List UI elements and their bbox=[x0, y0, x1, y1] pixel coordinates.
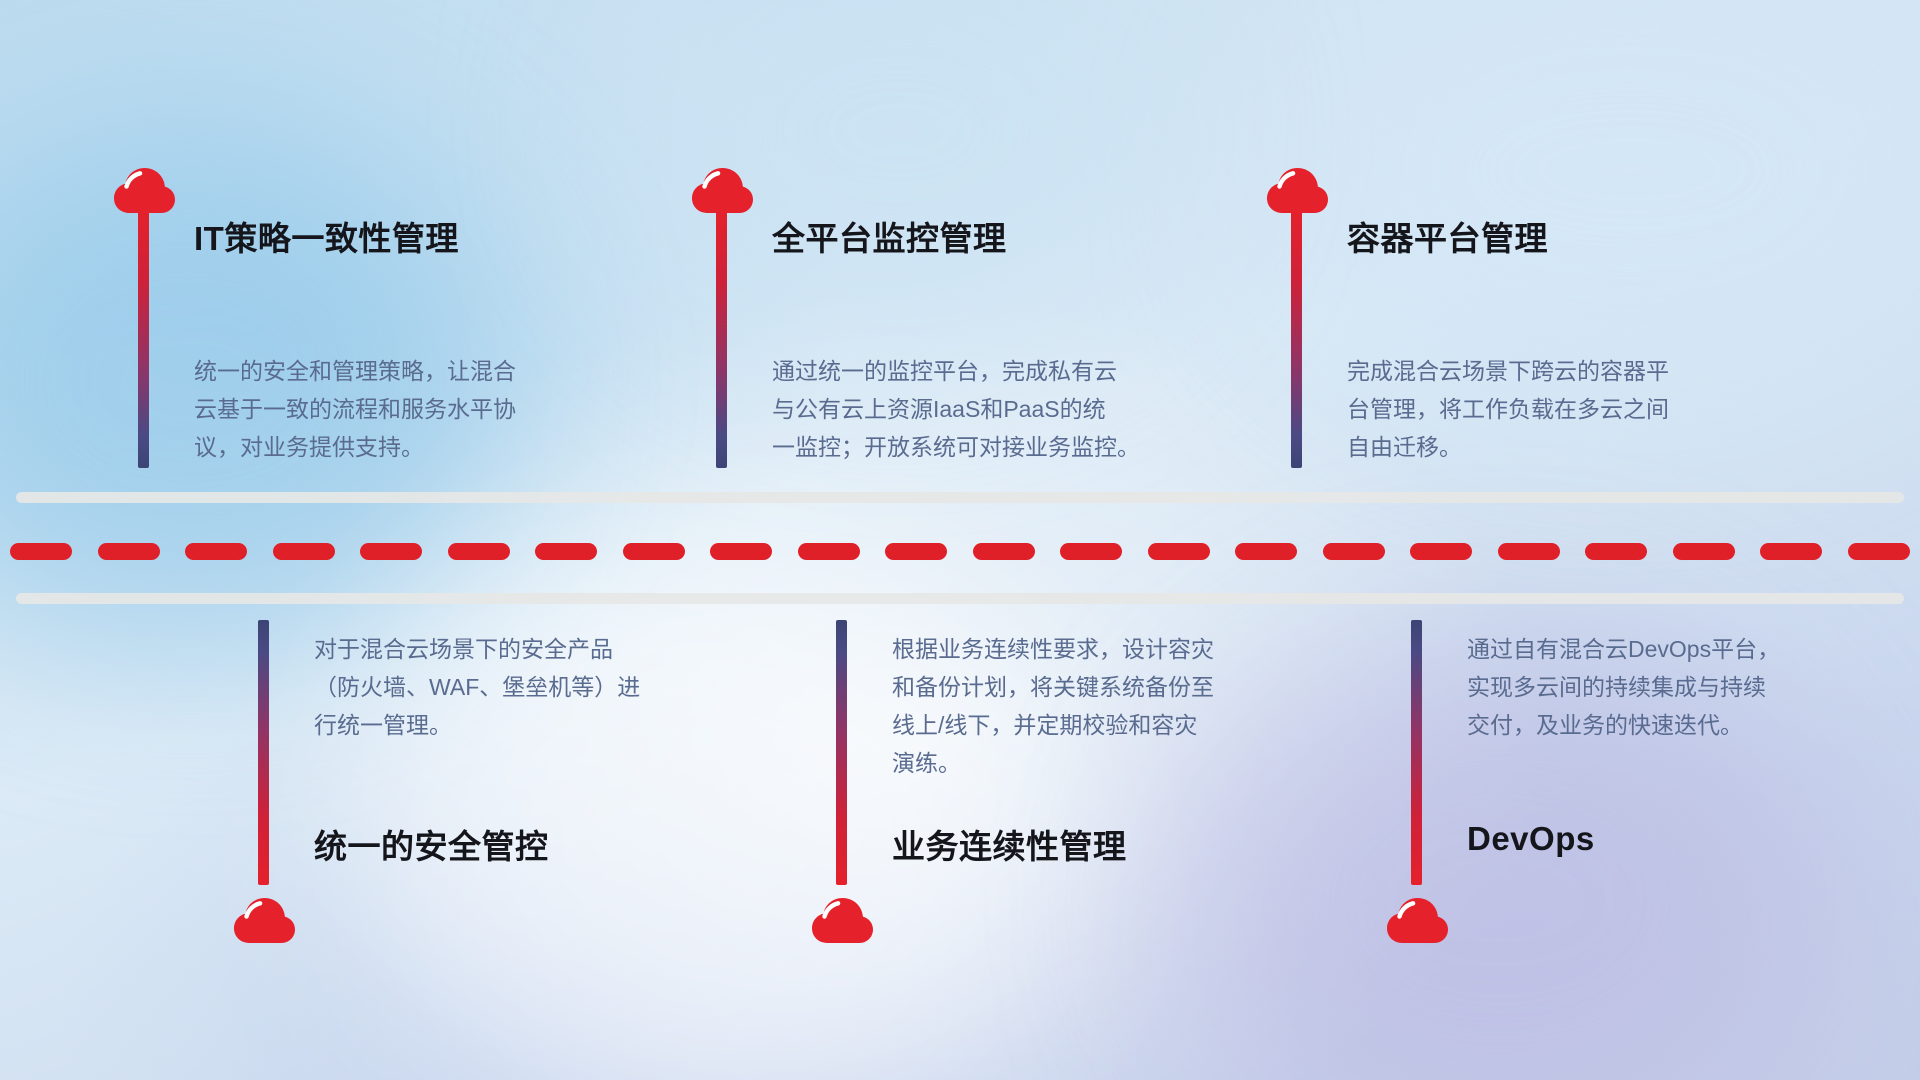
cloud-icon bbox=[810, 890, 874, 946]
capability-description: 通过自有混合云DevOps平台， 实现多云间的持续集成与持续 交付，及业务的快速… bbox=[1467, 630, 1920, 744]
road-dash bbox=[1060, 543, 1122, 560]
road-dash bbox=[10, 543, 72, 560]
road-dash bbox=[623, 543, 685, 560]
description-line: 实现多云间的持续集成与持续 bbox=[1467, 668, 1920, 706]
capability-heading: 全平台监控管理 bbox=[772, 212, 1007, 260]
description-line: 议，对业务提供支持。 bbox=[194, 428, 654, 466]
connector-stem bbox=[1291, 208, 1302, 468]
description-line: 交付，及业务的快速迭代。 bbox=[1467, 706, 1920, 744]
capability-heading: 业务连续性管理 bbox=[892, 820, 1127, 868]
description-line: 根据业务连续性要求，设计容灾 bbox=[892, 630, 1352, 668]
capability-heading: IT策略一致性管理 bbox=[194, 212, 459, 260]
description-line: 和备份计划，将关键系统备份至 bbox=[892, 668, 1352, 706]
road-dash bbox=[98, 543, 160, 560]
road-dash bbox=[1673, 543, 1735, 560]
divider-line-bottom bbox=[16, 593, 1904, 604]
road-dash bbox=[360, 543, 422, 560]
road-dash bbox=[273, 543, 335, 560]
capability-heading: 容器平台管理 bbox=[1347, 212, 1548, 260]
background-blob bbox=[1280, 0, 1920, 400]
description-line: 通过自有混合云DevOps平台， bbox=[1467, 630, 1920, 668]
cloud-icon bbox=[1385, 890, 1449, 946]
cloud-icon bbox=[232, 890, 296, 946]
road-dash bbox=[885, 543, 947, 560]
connector-stem bbox=[1411, 620, 1422, 885]
road-dash bbox=[1235, 543, 1297, 560]
road-dash bbox=[710, 543, 772, 560]
road-dash bbox=[448, 543, 510, 560]
infographic-canvas: IT策略一致性管理 统一的安全和管理策略，让混合 云基于一致的流程和服务水平协 … bbox=[0, 0, 1920, 1080]
dashed-road-divider bbox=[0, 543, 1920, 560]
divider-line-top bbox=[16, 492, 1904, 503]
description-line: 统一的安全和管理策略，让混合 bbox=[194, 352, 654, 390]
road-dash bbox=[1760, 543, 1822, 560]
description-line: 行统一管理。 bbox=[314, 706, 774, 744]
description-line: 通过统一的监控平台，完成私有云 bbox=[772, 352, 1232, 390]
connector-stem bbox=[258, 620, 269, 885]
cloud-marker bbox=[1385, 890, 1449, 946]
capability-description: 完成混合云场景下跨云的容器平 台管理，将工作负载在多云之间 自由迁移。 bbox=[1347, 352, 1807, 466]
road-dash bbox=[1848, 543, 1910, 560]
description-line: 云基于一致的流程和服务水平协 bbox=[194, 390, 654, 428]
capability-description: 统一的安全和管理策略，让混合 云基于一致的流程和服务水平协 议，对业务提供支持。 bbox=[194, 352, 654, 466]
capability-heading: DevOps bbox=[1467, 820, 1595, 858]
description-line: 演练。 bbox=[892, 744, 1352, 782]
connector-stem bbox=[836, 620, 847, 885]
description-line: 线上/线下，并定期校验和容灾 bbox=[892, 706, 1352, 744]
description-line: 与公有云上资源IaaS和PaaS的统 bbox=[772, 390, 1232, 428]
description-line: 对于混合云场景下的安全产品 bbox=[314, 630, 774, 668]
road-dash bbox=[185, 543, 247, 560]
road-dash bbox=[973, 543, 1035, 560]
description-line: 台管理，将工作负载在多云之间 bbox=[1347, 390, 1807, 428]
cloud-marker bbox=[810, 890, 874, 946]
capability-description: 根据业务连续性要求，设计容灾 和备份计划，将关键系统备份至 线上/线下，并定期校… bbox=[892, 630, 1352, 782]
road-dash bbox=[1323, 543, 1385, 560]
road-dash bbox=[1585, 543, 1647, 560]
road-dash bbox=[1410, 543, 1472, 560]
road-dash bbox=[1498, 543, 1560, 560]
capability-description: 对于混合云场景下的安全产品 （防火墙、WAF、堡垒机等）进 行统一管理。 bbox=[314, 630, 774, 744]
capability-heading: 统一的安全管控 bbox=[314, 820, 549, 868]
description-line: 完成混合云场景下跨云的容器平 bbox=[1347, 352, 1807, 390]
description-line: 自由迁移。 bbox=[1347, 428, 1807, 466]
cloud-marker bbox=[232, 890, 296, 946]
road-dash bbox=[1148, 543, 1210, 560]
connector-stem bbox=[138, 208, 149, 468]
connector-stem bbox=[716, 208, 727, 468]
description-line: （防火墙、WAF、堡垒机等）进 bbox=[314, 668, 774, 706]
description-line: 一监控；开放系统可对接业务监控。 bbox=[772, 428, 1232, 466]
capability-description: 通过统一的监控平台，完成私有云 与公有云上资源IaaS和PaaS的统 一监控；开… bbox=[772, 352, 1232, 466]
road-dash bbox=[798, 543, 860, 560]
road-dash bbox=[535, 543, 597, 560]
